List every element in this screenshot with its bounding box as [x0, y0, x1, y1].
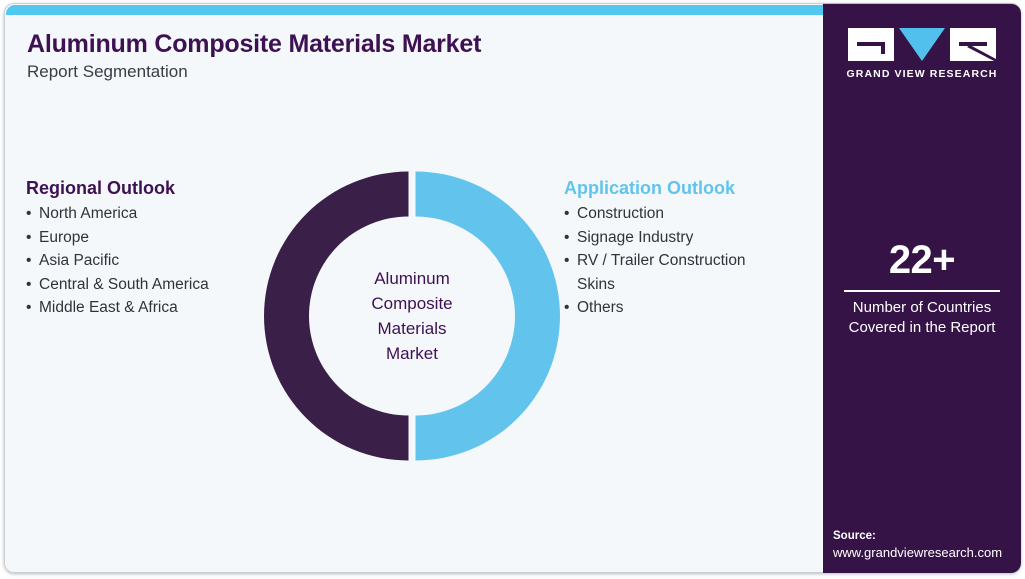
stat-label: Number of Countries Covered in the Repor…: [823, 298, 1021, 338]
main-panel: Aluminum Composite Materials Market Repo…: [4, 3, 823, 573]
source-label: Source:: [833, 528, 1021, 544]
brand-sidebar: GRAND VIEW RESEARCH 22+ Number of Countr…: [823, 3, 1021, 573]
page-title: Aluminum Composite Materials Market: [27, 30, 481, 59]
bullet-icon: •: [26, 249, 31, 273]
application-outlook-list: • Construction • Signage Industry • RV /…: [564, 202, 854, 320]
logo-g-icon: [848, 28, 894, 61]
list-item: • Others: [564, 296, 854, 320]
donut-slice-application-outlook: [416, 172, 561, 461]
stat-label-line: Covered in the Report: [823, 318, 1021, 338]
top-accent-bar: [6, 5, 824, 15]
list-item-label: Middle East & Africa: [39, 299, 178, 316]
list-item-label: Europe: [39, 229, 89, 246]
donut-svg: [263, 170, 561, 462]
logo: GRAND VIEW RESEARCH: [823, 28, 1021, 80]
donut-slice-regional-outlook: [264, 172, 409, 461]
stat-divider: [844, 290, 1000, 292]
list-item-label: Construction: [577, 205, 664, 222]
logo-marks: [823, 28, 1021, 61]
bullet-icon: •: [564, 296, 569, 320]
list-item-label-continuation: Skins: [577, 273, 854, 297]
segmentation-donut-chart: Aluminum Composite Materials Market: [263, 170, 561, 462]
bullet-icon: •: [26, 202, 31, 226]
stat-number: 22+: [823, 237, 1021, 283]
application-outlook-section: Application Outlook • Construction • Sig…: [564, 176, 854, 320]
list-item-label: Asia Pacific: [39, 252, 119, 269]
list-item-label: Others: [577, 299, 624, 316]
list-item-label: Central & South America: [39, 276, 209, 293]
logo-r-icon: [950, 28, 996, 61]
bullet-icon: •: [564, 202, 569, 226]
list-item: • Construction: [564, 202, 854, 226]
logo-v-icon: [899, 28, 945, 61]
bullet-icon: •: [564, 249, 569, 273]
infographic-card: Aluminum Composite Materials Market Repo…: [4, 3, 1021, 573]
bullet-icon: •: [26, 296, 31, 320]
list-item: • Signage Industry: [564, 226, 854, 250]
page-subtitle: Report Segmentation: [27, 62, 188, 82]
list-item: • RV / Trailer Construction Skins: [564, 249, 854, 296]
bullet-icon: •: [26, 273, 31, 297]
logo-wordmark: GRAND VIEW RESEARCH: [823, 68, 1021, 80]
list-item-label: RV / Trailer Construction: [577, 252, 746, 269]
bullet-icon: •: [564, 226, 569, 250]
source-url: www.grandviewresearch.com: [833, 544, 1021, 562]
country-count-stat: 22+ Number of Countries Covered in the R…: [823, 237, 1021, 338]
list-item-label: Signage Industry: [577, 229, 693, 246]
stat-label-line: Number of Countries: [823, 298, 1021, 318]
bullet-icon: •: [26, 226, 31, 250]
source-block: Source: www.grandviewresearch.com: [833, 528, 1021, 562]
application-outlook-heading: Application Outlook: [564, 176, 854, 200]
list-item-label: North America: [39, 205, 137, 222]
